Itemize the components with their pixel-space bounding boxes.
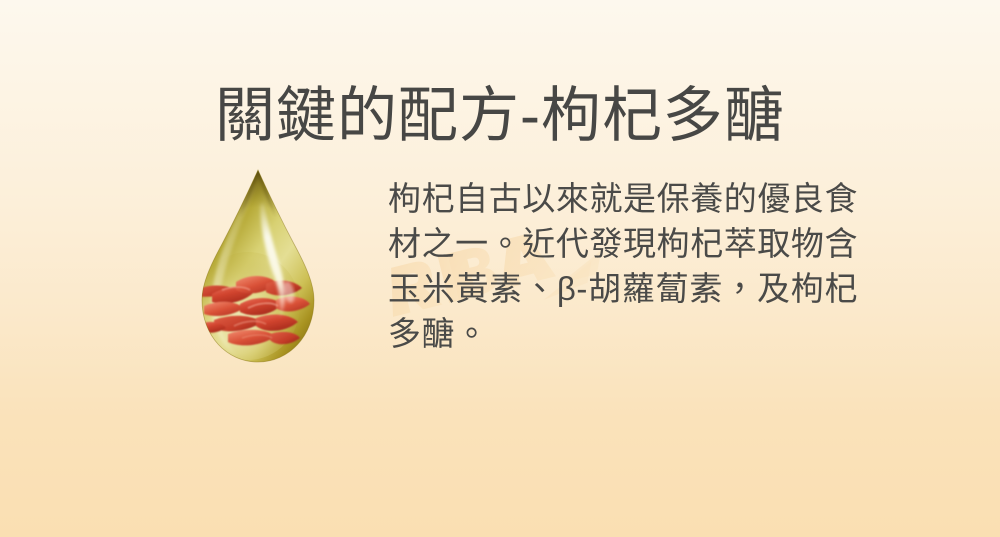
page-title: 關鍵的配方-枸杞多醣 (0, 80, 1000, 152)
droplet-illustration (182, 166, 334, 370)
description-text: 枸杞自古以來就是保養的優良食材之一。近代發現枸杞萃取物含玉米黃素、β-胡蘿蔔素，… (388, 176, 858, 356)
oil-droplet-icon (182, 166, 334, 370)
droplet-rim-shade (182, 166, 334, 370)
promo-banner: 關鍵的配方-枸杞多醣 (0, 0, 1000, 537)
description-block: 枸杞自古以來就是保養的優良食材之一。近代發現枸杞萃取物含玉米黃素、β-胡蘿蔔素，… (388, 176, 858, 356)
